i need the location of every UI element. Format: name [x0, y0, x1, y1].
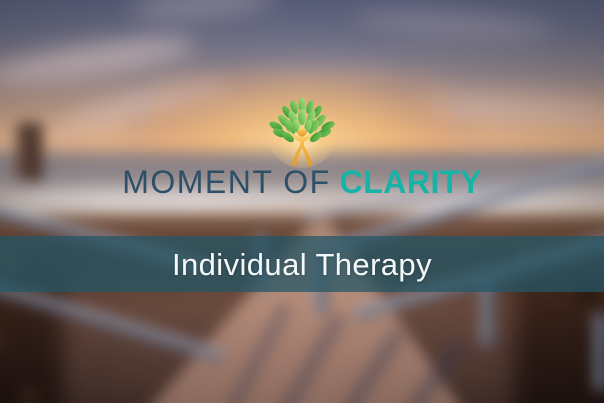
wordmark-moment-of: MOMENT OF — [122, 166, 330, 198]
brand-logo: MOMENT OF CLARITY — [0, 96, 604, 198]
title-band: Individual Therapy — [0, 236, 604, 292]
hero-banner: MOMENT OF CLARITY Individual Therapy — [0, 0, 604, 403]
railing-post — [594, 313, 604, 391]
page-title: Individual Therapy — [172, 249, 432, 280]
tree-of-life-logo-icon — [266, 96, 338, 170]
wordmark: MOMENT OF CLARITY — [122, 166, 482, 198]
background-photo — [0, 0, 604, 403]
wordmark-clarity: CLARITY — [340, 166, 482, 198]
